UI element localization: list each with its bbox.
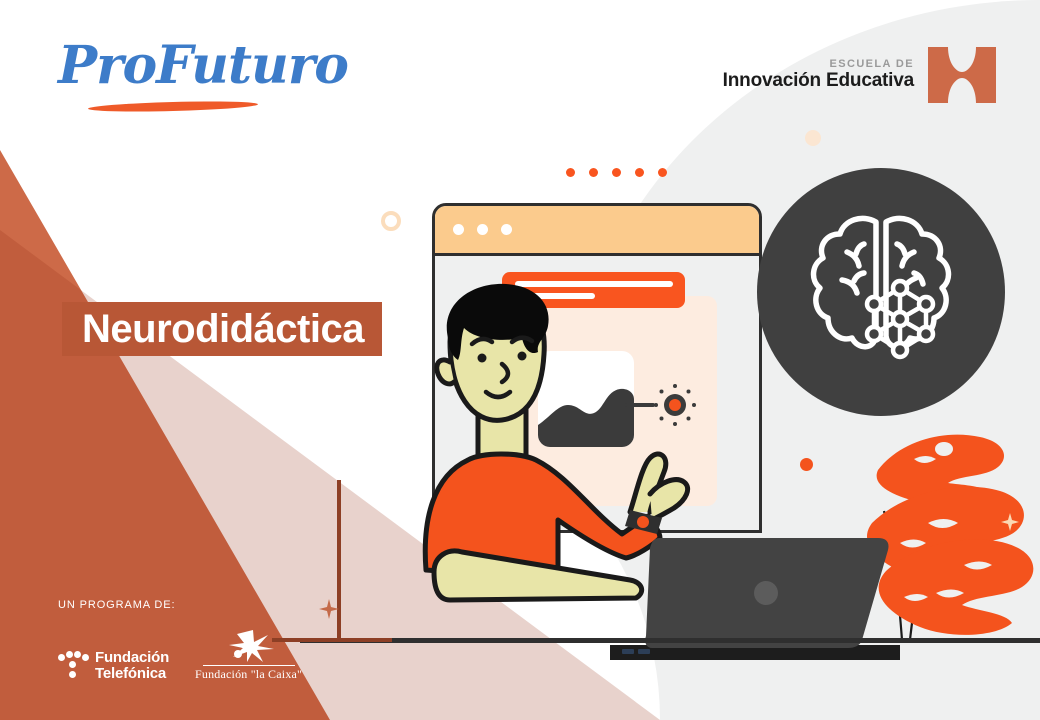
x-mark-icon (926, 45, 998, 105)
sponsor-row: Fundación Telefónica Fundación "la Caixa… (58, 629, 302, 682)
slide-canvas: ProFuturo ESCUELA DE Innovación Educativ… (0, 0, 1040, 720)
desk-line (300, 638, 1040, 643)
fundacion-telefonica-logo[interactable]: Fundación Telefónica (58, 650, 169, 682)
page-title: Neurodidáctica (62, 302, 382, 356)
page-title-text: Neurodidáctica (82, 307, 364, 352)
sponsor-lead-label: UN PROGRAMA DE: (58, 599, 302, 611)
profuturo-logo[interactable]: ProFuturo (58, 40, 348, 92)
laptop-icon (600, 520, 900, 680)
sparkle-icon-left (318, 598, 340, 620)
circle-outline-icon (381, 211, 401, 231)
profuturo-wordmark: ProFuturo (58, 40, 348, 92)
desk-edge (272, 638, 392, 642)
caixa-star-icon (223, 629, 275, 663)
decor-dot-peach (805, 130, 821, 146)
caixa-caption: Fundación "la Caixa" (195, 667, 302, 682)
caixa-divider (203, 665, 295, 666)
decor-dot-orange (800, 458, 813, 471)
escuela-text: ESCUELA DE Innovación Educativa (723, 58, 914, 92)
telefonica-text: Fundación Telefónica (95, 650, 169, 682)
escuela-line-2: Innovación Educativa (723, 71, 914, 92)
sponsor-footer: UN PROGRAMA DE: Fundación Telefónica (58, 599, 302, 682)
fundacion-la-caixa-logo[interactable]: Fundación "la Caixa" (195, 629, 302, 682)
telefonica-dots-icon (58, 651, 86, 681)
telefonica-line-2: Telefónica (95, 666, 169, 682)
brain-network-icon (790, 200, 972, 382)
telefonica-line-1: Fundación (95, 650, 169, 666)
escuela-innovacion-logo[interactable]: ESCUELA DE Innovación Educativa (723, 45, 998, 105)
sparkle-icon (1000, 512, 1020, 532)
decor-dot-row (566, 168, 667, 177)
